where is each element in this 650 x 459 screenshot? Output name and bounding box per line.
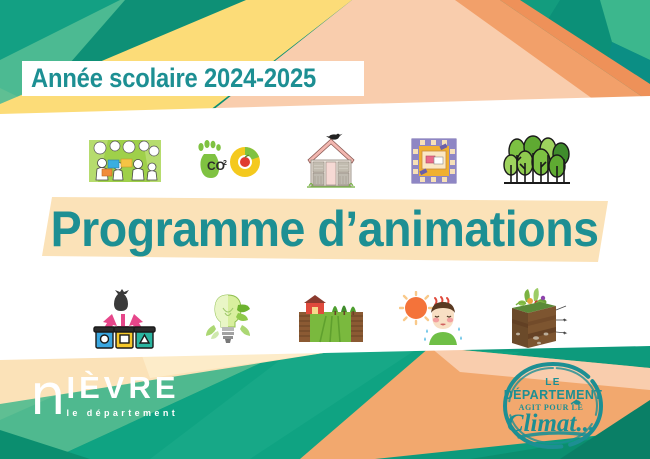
- green-energy-lightbulb-icon: [191, 286, 265, 352]
- insect-hotel-birdhouse-icon: [294, 128, 368, 194]
- page-title: Programme d’animations: [51, 204, 599, 254]
- badge-line-4: Climat...: [507, 410, 595, 437]
- soil-cross-section-icon: [500, 286, 574, 352]
- carbon-footprint-co2-icon: CO 2: [191, 128, 265, 194]
- svg-text:2: 2: [223, 160, 227, 167]
- year-label-text: Année scolaire 2024-2025: [31, 64, 316, 92]
- board-game-icon: [397, 128, 471, 194]
- icon-row-1: CO 2: [88, 132, 574, 190]
- farm-countryside-icon: [294, 286, 368, 352]
- heatwave-child-icon: [397, 286, 471, 352]
- classroom-illustration-icon: [88, 128, 162, 194]
- poster-canvas: Année scolaire 2024-2025: [0, 0, 650, 459]
- logo-word: IÈVRE: [67, 372, 181, 406]
- badge-line-2: DÉPARTEMENT: [504, 387, 603, 402]
- climate-badge: LE DÉPARTEMENT AGIT POUR LE Climat...: [497, 358, 609, 454]
- badge-line-1: LE: [545, 377, 561, 388]
- forest-trees-icon: [500, 128, 574, 194]
- logo-mark: n: [30, 374, 64, 418]
- logo-subtitle: le département: [67, 408, 181, 418]
- nievre-departement-logo: n IÈVRE le département: [30, 372, 180, 418]
- title-banner: Programme d’animations: [42, 197, 608, 262]
- waste-sorting-bins-icon: [88, 286, 162, 352]
- icon-row-2: [88, 286, 574, 352]
- year-label: Année scolaire 2024-2025: [22, 61, 364, 96]
